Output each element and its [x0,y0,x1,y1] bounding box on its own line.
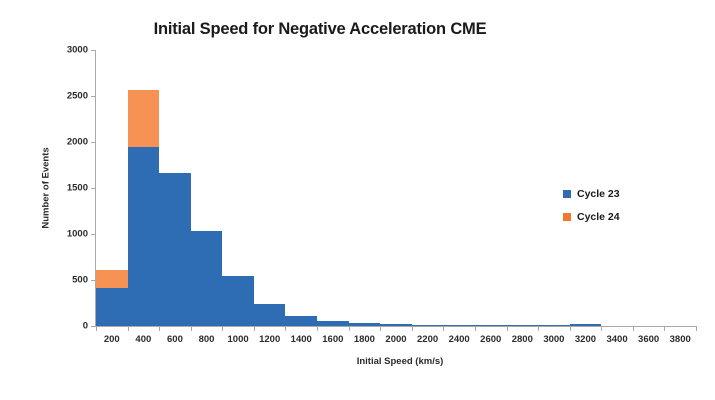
x-tick-label: 1800 [354,334,375,345]
bar [128,147,160,326]
x-tick-mark [254,326,255,331]
legend-label: Cycle 23 [577,188,620,200]
legend-item[interactable]: Cycle 24 [563,211,620,223]
x-tick-mark [285,326,286,331]
x-tick-mark [633,326,634,331]
x-tick-label: 3000 [543,334,564,345]
x-tick-mark [601,326,602,331]
x-tick-label: 2200 [417,334,438,345]
x-tick-label: 800 [199,334,215,345]
x-tick-mark [538,326,539,331]
x-tick-label: 1600 [322,334,343,345]
bar [475,325,507,326]
x-tick-label: 3200 [575,334,596,345]
bar [507,325,539,326]
bar [254,304,286,326]
x-tick-mark [443,326,444,331]
x-tick-mark [349,326,350,331]
chart-container: Initial Speed for Negative Acceleration … [0,0,715,400]
x-tick-mark [507,326,508,331]
bar [191,231,223,326]
x-tick-mark [475,326,476,331]
x-tick-label: 1200 [259,334,280,345]
x-tick-mark [380,326,381,331]
x-tick-label: 200 [104,334,120,345]
bar [285,316,317,326]
bar [96,288,128,326]
x-tick-mark [128,326,129,331]
chart-title: Initial Speed for Negative Acceleration … [0,20,640,39]
x-tick-label: 400 [135,334,151,345]
x-tick-mark [222,326,223,331]
legend-label: Cycle 24 [577,211,620,223]
y-tick-mark [91,96,96,97]
x-tick-label: 3400 [606,334,627,345]
x-tick-label: 3800 [670,334,691,345]
x-tick-label: 2400 [449,334,470,345]
bar [159,173,191,326]
x-axis-label: Initial Speed (km/s) [357,356,444,367]
x-tick-mark [96,326,97,331]
bar [317,321,349,326]
bar [222,276,254,326]
x-tick-mark [570,326,571,331]
legend-swatch-icon [563,213,571,221]
bar [412,325,444,326]
x-tick-mark [191,326,192,331]
x-tick-label: 3600 [638,334,659,345]
x-tick-label: 1000 [228,334,249,345]
y-axis-label: Number of Events [41,147,52,228]
bar [380,324,412,326]
y-tick-mark [91,142,96,143]
x-tick-label: 2600 [480,334,501,345]
bar [538,325,570,326]
x-tick-mark [159,326,160,331]
x-tick-mark [696,326,697,331]
chart-legend: Cycle 23Cycle 24 [563,188,620,234]
y-tick-mark [91,50,96,51]
x-tick-label: 2000 [385,334,406,345]
x-axis-line [95,326,696,327]
x-tick-mark [412,326,413,331]
bar [349,323,381,326]
x-tick-label: 600 [167,334,183,345]
bar [443,325,475,326]
bar [570,324,602,326]
legend-swatch-icon [563,190,571,198]
x-tick-label: 1400 [291,334,312,345]
x-tick-mark [317,326,318,331]
y-tick-mark [91,188,96,189]
legend-item[interactable]: Cycle 23 [563,188,620,200]
x-tick-label: 2800 [512,334,533,345]
x-tick-mark [664,326,665,331]
y-tick-mark [91,234,96,235]
